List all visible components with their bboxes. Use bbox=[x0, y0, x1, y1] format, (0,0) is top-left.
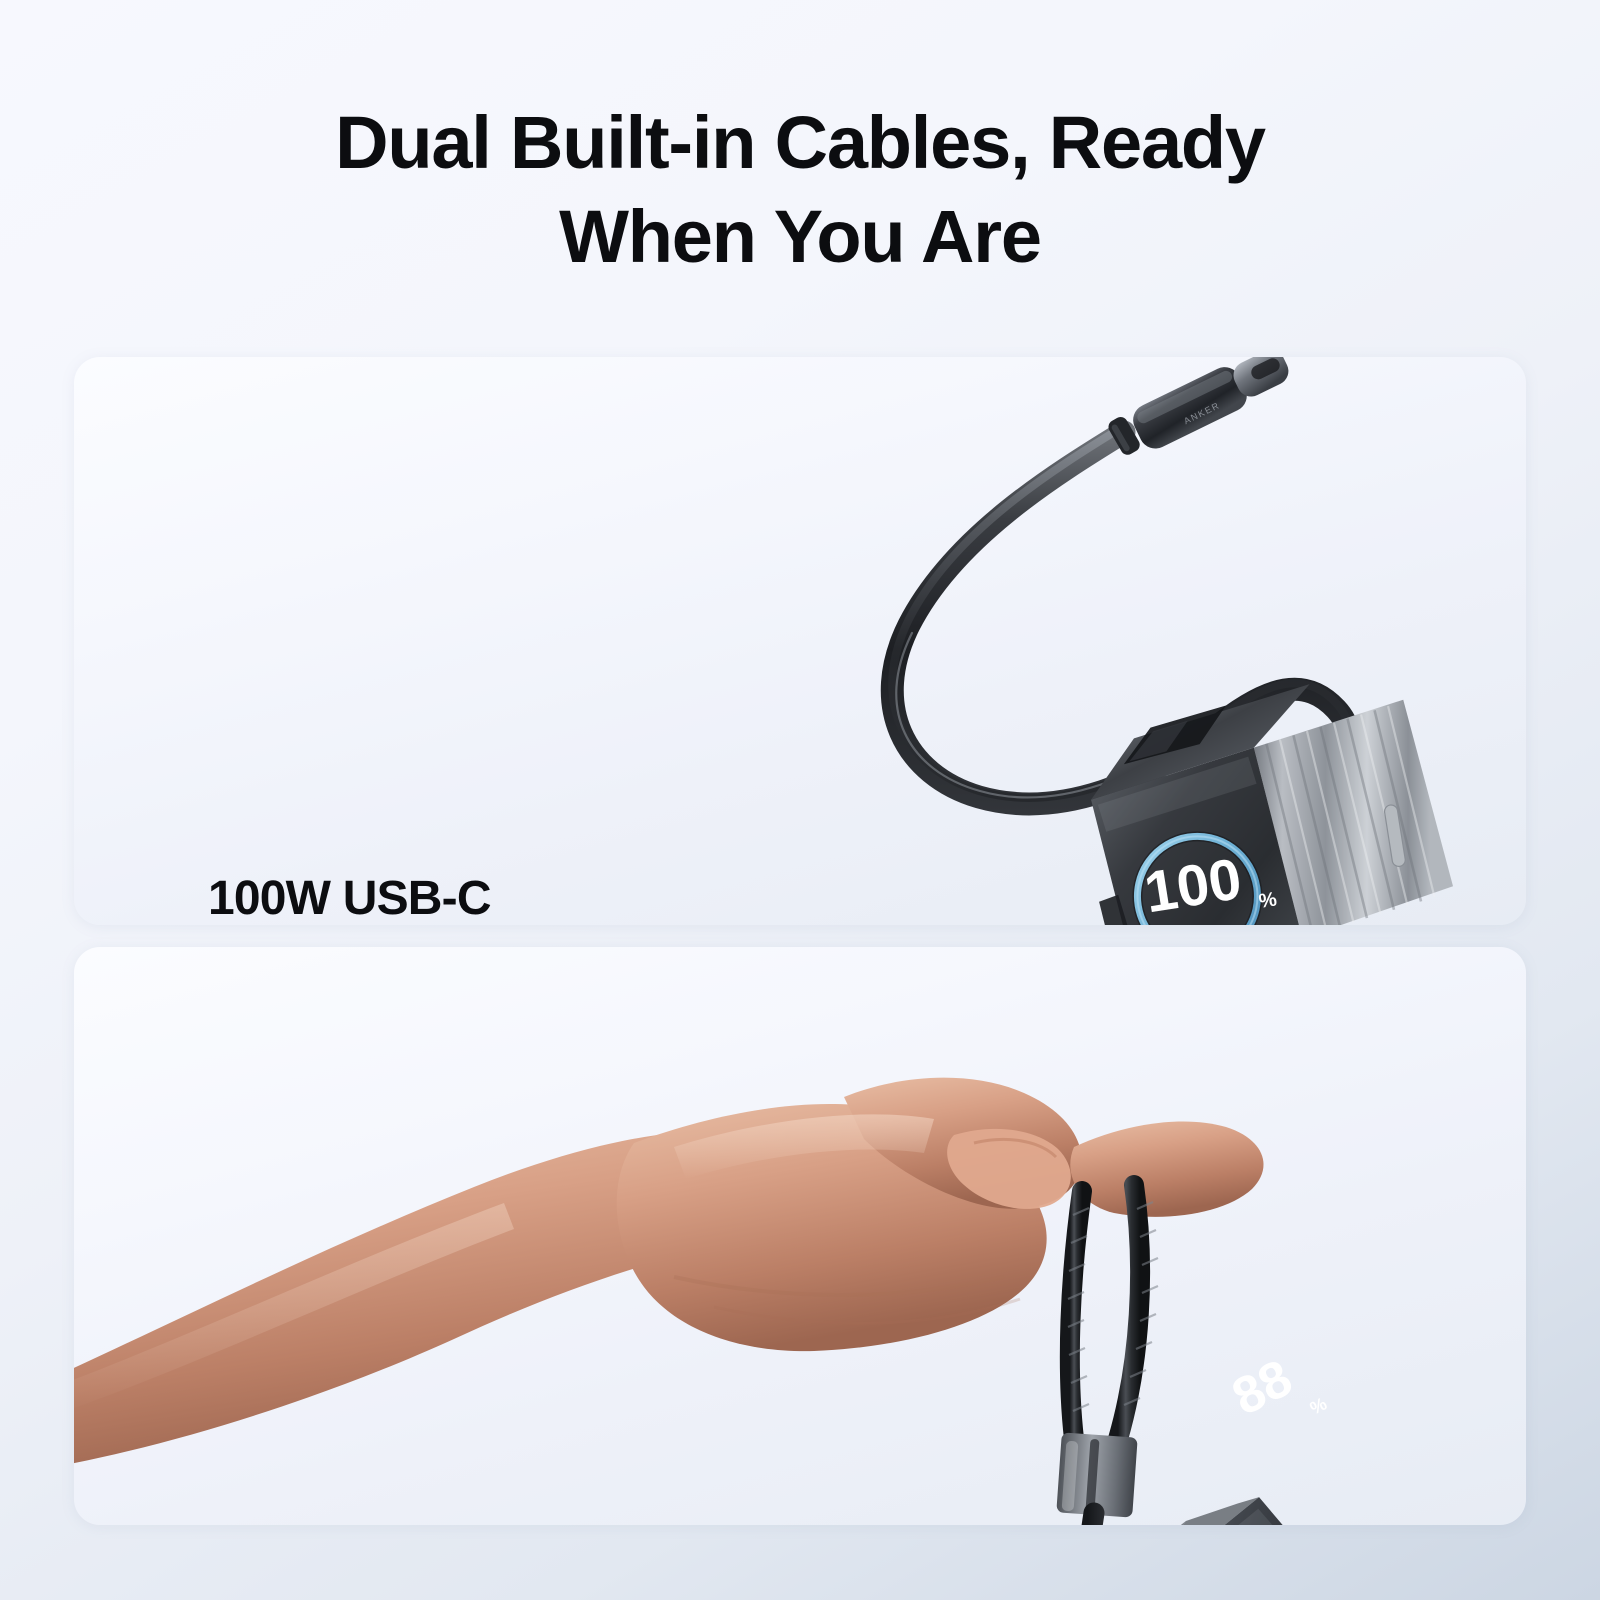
retractable-cable-heading: 100W USB-C retractable cable bbox=[208, 867, 988, 925]
lanyard-strand-left bbox=[1070, 1191, 1082, 1439]
power-bank-top-cap bbox=[1079, 684, 1323, 800]
battery-percent-value-2: 88 bbox=[1223, 1349, 1301, 1427]
battery-percent-symbol-2: % bbox=[1307, 1393, 1330, 1418]
battery-ring-display bbox=[1129, 828, 1266, 925]
cable-storage-slot bbox=[1117, 706, 1232, 765]
thumb bbox=[947, 1129, 1071, 1209]
connector-brand-label: ANKER bbox=[1182, 400, 1221, 426]
power-bank-ridges bbox=[1264, 704, 1438, 925]
hand-holding-lanyard bbox=[74, 1078, 1264, 1467]
power-bank-front-face-2 bbox=[1116, 1473, 1427, 1525]
power-button bbox=[1384, 804, 1407, 867]
page-title: Dual Built-in Cables, Ready When You Are bbox=[0, 96, 1600, 284]
index-finger bbox=[844, 1078, 1081, 1209]
retractable-cable-copy: 100W USB-C retractable cable Passed 20,0… bbox=[208, 867, 988, 925]
feature-card-retractable-cable: ANKER bbox=[74, 357, 1526, 925]
lanyard-strand-right bbox=[1118, 1185, 1140, 1439]
lanyard-metal-collar bbox=[1056, 1432, 1137, 1517]
battery-percent-symbol: % bbox=[1257, 888, 1278, 913]
battery-ring-arc bbox=[1129, 828, 1266, 925]
lanyard-cable-illustration: 170W bbox=[74, 947, 1526, 1525]
cable-strain-relief bbox=[1106, 414, 1142, 457]
battery-percent-readout-2: 88 % bbox=[1223, 1349, 1330, 1427]
feature-card-lanyard-cable: 170W bbox=[74, 947, 1526, 1525]
lanyard-cable-tail bbox=[1087, 1513, 1210, 1525]
retractable-cable-strap bbox=[892, 432, 1350, 827]
lanyard-cable bbox=[1056, 1185, 1210, 1525]
power-bank-top-cap-2 bbox=[999, 1521, 1222, 1525]
palm bbox=[617, 1104, 1047, 1351]
power-bank-side-panel bbox=[1250, 697, 1457, 925]
power-bank-front-face bbox=[1087, 745, 1306, 925]
fingers bbox=[1070, 1121, 1263, 1216]
power-bank-retractable bbox=[1071, 667, 1462, 925]
battery-percent-value: 100 bbox=[1140, 846, 1246, 925]
usb-c-connector-head: ANKER bbox=[1128, 357, 1296, 454]
power-bank-lanyard: 170W bbox=[999, 1462, 1444, 1525]
product-feature-page: Dual Built-in Cables, Ready When You Are bbox=[0, 0, 1600, 1600]
retractable-cable-illustration: ANKER bbox=[74, 357, 1526, 925]
battery-percent-readout: 100 % bbox=[1140, 846, 1278, 925]
forearm bbox=[74, 1133, 714, 1467]
